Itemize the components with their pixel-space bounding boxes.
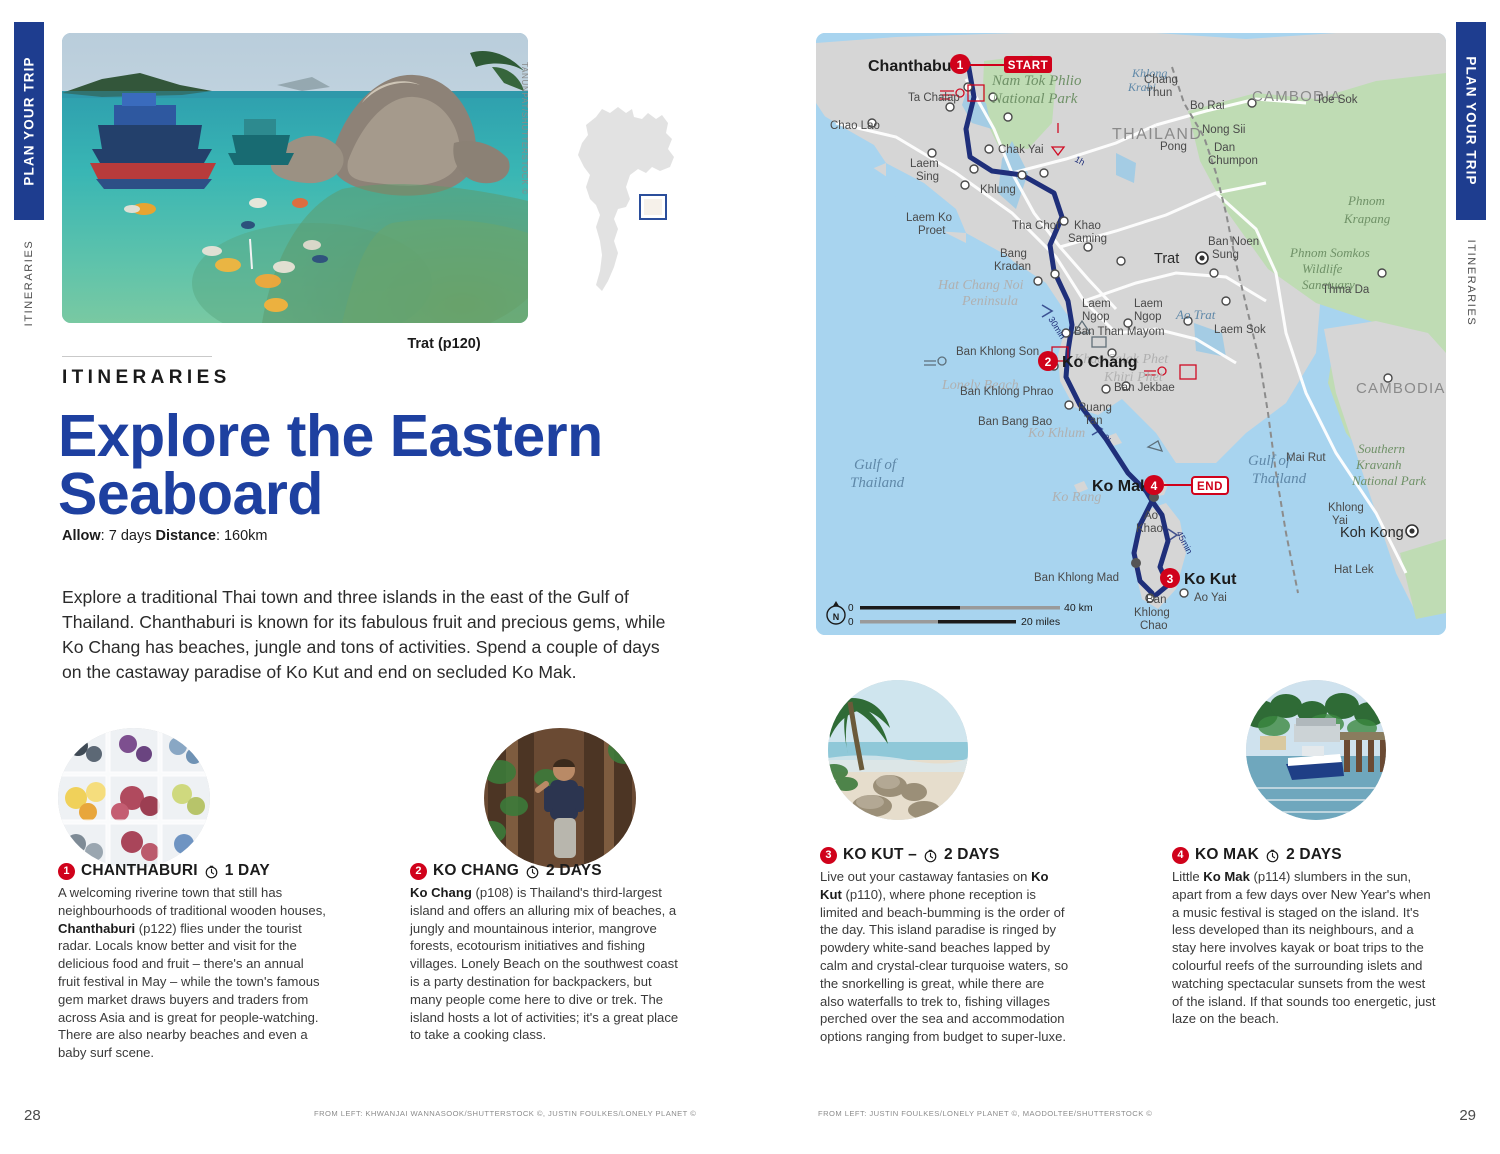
- svg-text:Ban Khlong Phrao: Ban Khlong Phrao: [960, 386, 1053, 398]
- svg-text:Peninsula: Peninsula: [961, 294, 1018, 309]
- svg-text:Thailand: Thailand: [850, 475, 905, 491]
- svg-text:Dan: Dan: [1214, 142, 1235, 154]
- svg-text:Pong: Pong: [1160, 141, 1187, 153]
- entry-number-badge: 2: [410, 863, 427, 880]
- svg-text:N: N: [833, 612, 840, 622]
- side-sub-label: ITINERARIES: [23, 240, 35, 327]
- entry-number-badge: 1: [58, 863, 75, 880]
- map-marker-1-chanthaburi: Chanthaburi 1 START: [868, 54, 1052, 75]
- svg-text:Ko Chang: Ko Chang: [1062, 354, 1138, 371]
- svg-text:Khlong: Khlong: [1328, 502, 1364, 514]
- entry-number-badge: 3: [820, 847, 837, 864]
- map-marker-3-ko-kut: 3 Ko Kut: [1160, 568, 1237, 588]
- svg-text:Khao: Khao: [1136, 523, 1163, 535]
- svg-text:Khlong: Khlong: [1134, 607, 1170, 619]
- clock-icon: [1265, 848, 1280, 863]
- svg-text:Ao: Ao: [1144, 510, 1158, 522]
- thailand-locator-map: [556, 95, 696, 295]
- svg-text:Ao Trat: Ao Trat: [1175, 307, 1216, 322]
- side-tab-plan-your-trip-right: PLAN YOUR TRIP: [1456, 22, 1486, 220]
- svg-text:Ban Bang Bao: Ban Bang Bao: [978, 416, 1052, 428]
- svg-text:THAILAND: THAILAND: [1112, 126, 1202, 143]
- svg-text:Laem Ko: Laem Ko: [906, 212, 952, 224]
- svg-text:Wildlife: Wildlife: [1302, 261, 1343, 276]
- itinerary-route-map: THAILAND CAMBODIA CAMBODIA Nam Tok Phlio…: [816, 33, 1446, 635]
- svg-text:Ko Mak: Ko Mak: [1092, 478, 1149, 495]
- book-spread: PLAN YOUR TRIP ITINERARIES PLAN YOUR TRI…: [0, 0, 1500, 1154]
- pier-illustration: [1246, 680, 1386, 820]
- svg-text:Chanthaburi: Chanthaburi: [868, 58, 962, 75]
- photo-credit-left: FROM LEFT: KHWANJAI WANNASOOK/SHUTTERSTO…: [314, 1109, 696, 1118]
- photo-credit-right: FROM LEFT: JUSTIN FOULKES/LONELY PLANET …: [818, 1109, 1152, 1118]
- svg-text:START: START: [1008, 60, 1048, 72]
- svg-text:Kravanh: Kravanh: [1355, 457, 1402, 472]
- svg-text:Ngop: Ngop: [1134, 311, 1162, 323]
- svg-text:1: 1: [957, 58, 964, 72]
- svg-text:Mai Rut: Mai Rut: [1286, 452, 1326, 464]
- clock-icon: [204, 864, 219, 879]
- svg-text:Sing: Sing: [916, 171, 939, 183]
- entry-heading: 4 KO MAK 2 DAYS: [1172, 846, 1438, 864]
- entry-duration: 2 DAYS: [1286, 846, 1342, 864]
- svg-text:Laem: Laem: [1082, 298, 1111, 310]
- svg-text:Ruang: Ruang: [1078, 402, 1112, 414]
- svg-text:Laem: Laem: [1134, 298, 1163, 310]
- intro-paragraph: Explore a traditional Thai town and thre…: [62, 585, 672, 685]
- entry-photo-ko-kut: [828, 680, 968, 820]
- svg-text:2: 2: [1045, 355, 1052, 369]
- svg-text:Chao: Chao: [1140, 620, 1168, 632]
- svg-text:National Park: National Park: [991, 91, 1078, 107]
- svg-text:Khao: Khao: [1074, 220, 1101, 232]
- side-sub-itineraries-right: ITINERARIES: [1456, 228, 1486, 338]
- entry-body: Live out your castaway fantasies on Ko K…: [820, 868, 1070, 1046]
- hero-photo-credit: TANUNPAT/SHUTTERSTOCK ©: [520, 62, 529, 195]
- svg-text:Chak Yai: Chak Yai: [998, 144, 1044, 156]
- svg-text:Bo Rai: Bo Rai: [1190, 100, 1225, 112]
- map-marker-4-ko-mak: Ko Mak 4 END: [1092, 475, 1228, 495]
- svg-text:Laem Sok: Laem Sok: [1214, 324, 1266, 336]
- svg-text:Bang: Bang: [1000, 248, 1027, 260]
- svg-text:Phnom Somkos: Phnom Somkos: [1289, 245, 1370, 260]
- entry-heading: 1 CHANTHABURI 1 DAY: [58, 862, 326, 880]
- distance-label: Distance: [155, 528, 215, 544]
- gems-illustration: [58, 728, 210, 868]
- page-number-left: 28: [24, 1107, 41, 1124]
- entry-title: KO KUT –: [843, 846, 917, 864]
- svg-text:Proet: Proet: [918, 225, 946, 237]
- svg-text:Saming: Saming: [1068, 233, 1107, 245]
- svg-text:0: 0: [848, 603, 854, 614]
- entry-heading: 3 KO KUT – 2 DAYS: [820, 846, 1070, 864]
- svg-text:Gulf of: Gulf of: [854, 457, 898, 473]
- svg-text:Krapang: Krapang: [1343, 211, 1391, 226]
- forest-illustration: [484, 728, 636, 868]
- clock-icon: [923, 848, 938, 863]
- entry-body: Ko Chang (p108) is Thailand's third-larg…: [410, 884, 682, 1044]
- entry-photo-ko-mak: [1246, 680, 1386, 820]
- entry-duration: 2 DAYS: [944, 846, 1000, 864]
- entry-photo-ko-chang: [484, 728, 636, 868]
- svg-text:Ban Noen: Ban Noen: [1208, 236, 1259, 248]
- svg-text:Ban Jekbae: Ban Jekbae: [1114, 382, 1175, 394]
- svg-text:Hat Lek: Hat Lek: [1334, 564, 1374, 576]
- entry-heading: 2 KO CHANG 2 DAYS: [410, 862, 682, 880]
- entry-body: A welcoming riverine town that still has…: [58, 884, 326, 1062]
- page-title: Explore the Eastern Seaboard: [58, 408, 678, 524]
- entry-ko-kut: 3 KO KUT – 2 DAYS Live out your castaway…: [820, 846, 1070, 1046]
- side-sub-itineraries-left: ITINERARIES: [14, 228, 44, 338]
- svg-text:END: END: [1197, 481, 1223, 493]
- thailand-outline-icon: [556, 95, 696, 295]
- svg-text:Khlung: Khlung: [980, 184, 1016, 196]
- entry-ko-chang: 2 KO CHANG 2 DAYS Ko Chang (p108) is Tha…: [410, 862, 682, 1044]
- svg-text:Ban Khlong Mad: Ban Khlong Mad: [1034, 572, 1119, 584]
- side-tab-plan-your-trip-left: PLAN YOUR TRIP: [14, 22, 44, 220]
- map-graphic: THAILAND CAMBODIA CAMBODIA Nam Tok Phlio…: [816, 33, 1446, 635]
- svg-text:Ko Kut: Ko Kut: [1184, 571, 1237, 588]
- svg-text:Trat: Trat: [1154, 251, 1179, 267]
- svg-text:20 miles: 20 miles: [1021, 616, 1060, 628]
- svg-text:Kradan: Kradan: [994, 261, 1031, 273]
- svg-text:40 km: 40 km: [1064, 602, 1093, 614]
- svg-text:Thma Da: Thma Da: [1322, 284, 1370, 296]
- svg-text:Laem: Laem: [910, 158, 939, 170]
- side-tab-label: PLAN YOUR TRIP: [22, 56, 37, 185]
- section-kicker: ITINERARIES: [62, 367, 231, 389]
- entry-photo-chanthaburi: [58, 728, 210, 868]
- hero-photo-trat: [62, 33, 528, 323]
- svg-text:Thun: Thun: [1146, 87, 1172, 99]
- page-title-line2: Seaboard: [58, 466, 678, 524]
- svg-text:Nam Tok Phlio: Nam Tok Phlio: [991, 73, 1082, 89]
- svg-text:Phnom: Phnom: [1347, 193, 1385, 208]
- trip-meta: Allow: 7 days Distance: 160km: [62, 528, 268, 544]
- clock-icon: [525, 864, 540, 879]
- entry-chanthaburi: 1 CHANTHABURI 1 DAY A welcoming riverine…: [58, 862, 326, 1062]
- svg-text:National Park: National Park: [1351, 473, 1426, 488]
- entry-title: KO CHANG: [433, 862, 519, 880]
- allow-value: : 7 days: [101, 528, 156, 544]
- hero-caption: Trat (p120): [360, 336, 528, 352]
- entry-number-badge: 4: [1172, 847, 1189, 864]
- entry-duration: 1 DAY: [225, 862, 270, 880]
- svg-text:Ban Khlong Son: Ban Khlong Son: [956, 346, 1039, 358]
- svg-text:Ao Yai: Ao Yai: [1194, 592, 1227, 604]
- hero-illustration: [62, 33, 528, 323]
- entry-title: KO MAK: [1195, 846, 1259, 864]
- svg-text:Ban: Ban: [1146, 594, 1166, 606]
- svg-text:Chao Lao: Chao Lao: [830, 120, 880, 132]
- svg-text:3: 3: [1167, 572, 1174, 586]
- svg-text:Toe Sok: Toe Sok: [1316, 94, 1358, 106]
- side-tab-label: PLAN YOUR TRIP: [1464, 56, 1479, 185]
- svg-text:0: 0: [848, 617, 854, 628]
- entry-body: Little Ko Mak (p114) slumbers in the sun…: [1172, 868, 1438, 1028]
- svg-text:Chumpon: Chumpon: [1208, 155, 1258, 167]
- svg-text:Southern: Southern: [1358, 441, 1405, 456]
- svg-text:Tan: Tan: [1084, 415, 1103, 427]
- svg-text:Koh Kong: Koh Kong: [1340, 525, 1404, 541]
- svg-text:Thailand: Thailand: [1252, 471, 1307, 487]
- distance-value: : 160km: [216, 528, 268, 544]
- svg-text:CAMBODIA: CAMBODIA: [1356, 380, 1446, 397]
- svg-text:Chang: Chang: [1144, 74, 1178, 86]
- beach-illustration: [828, 680, 968, 820]
- map-marker-2-ko-chang: 2 Ko Chang: [1038, 351, 1138, 371]
- entry-ko-mak: 4 KO MAK 2 DAYS Little Ko Mak (p114) slu…: [1172, 846, 1438, 1028]
- svg-text:Hat Chang Noi: Hat Chang Noi: [937, 278, 1024, 293]
- svg-text:Tha Chot: Tha Chot: [1012, 220, 1060, 232]
- svg-text:Sung: Sung: [1212, 249, 1239, 261]
- page-title-line1: Explore the Eastern: [58, 408, 678, 466]
- svg-text:Ta Chalap: Ta Chalap: [908, 92, 960, 104]
- entry-title: CHANTHABURI: [81, 862, 198, 880]
- entry-duration: 2 DAYS: [546, 862, 602, 880]
- page-number-right: 29: [1459, 1107, 1476, 1124]
- svg-text:Nong Sii: Nong Sii: [1202, 124, 1245, 136]
- svg-text:4: 4: [1151, 479, 1158, 493]
- svg-text:Ngop: Ngop: [1082, 311, 1110, 323]
- side-sub-label: ITINERARIES: [1465, 240, 1477, 327]
- allow-label: Allow: [62, 528, 101, 544]
- svg-text:Ban Than Mayom: Ban Than Mayom: [1074, 326, 1165, 338]
- svg-text:Ko Khlum: Ko Khlum: [1027, 426, 1085, 441]
- kicker-rule: [62, 356, 212, 357]
